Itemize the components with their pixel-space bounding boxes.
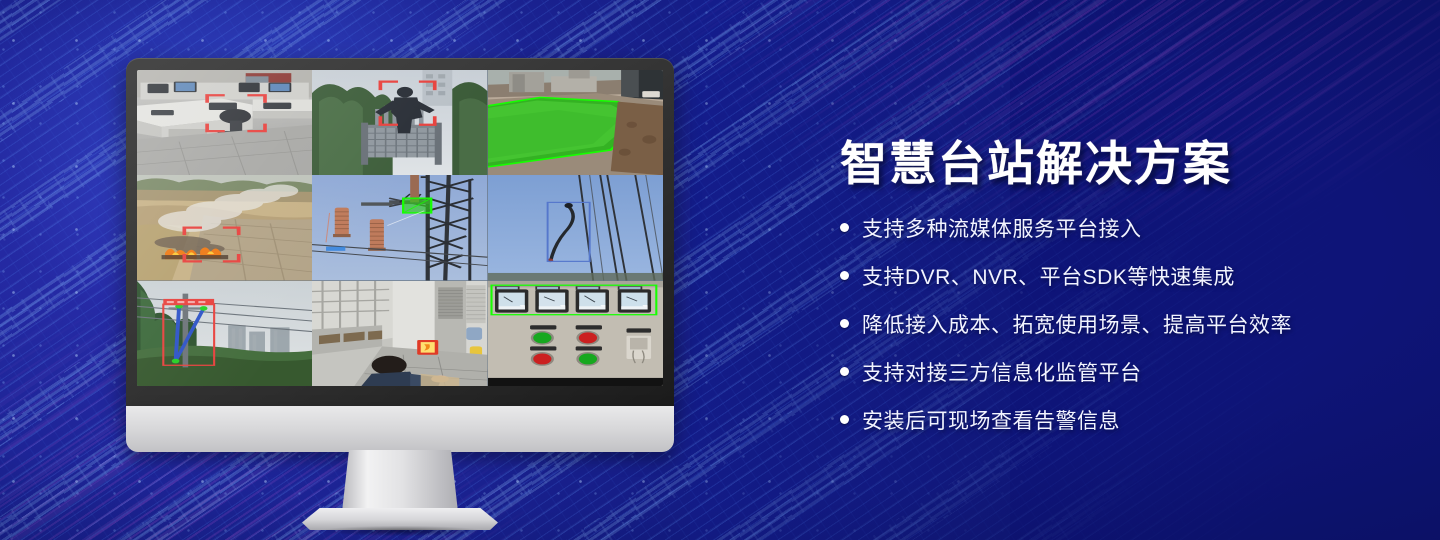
monitor-stand-neck <box>342 450 458 512</box>
monitor-chin <box>126 406 674 452</box>
video-panel-control-room-office[interactable] <box>137 70 312 175</box>
video-panel-green-tarp-yard-zone[interactable] <box>488 70 663 175</box>
bullet-dot-icon <box>840 415 849 424</box>
video-panel-control-panel-gauges[interactable] <box>488 281 663 386</box>
monitor-screen <box>137 70 663 386</box>
video-panel-person-climbing-fence[interactable] <box>312 70 487 175</box>
feature-text: 支持对接三方信息化监管平台 <box>862 357 1142 387</box>
bullet-dot-icon <box>840 271 849 280</box>
video-panel-equipment-room-operator[interactable] <box>312 281 487 386</box>
feature-text: 支持多种流媒体服务平台接入 <box>862 213 1142 243</box>
feature-text: 安装后可现场查看告警信息 <box>862 405 1120 435</box>
feature-item: 支持多种流媒体服务平台接入 <box>840 213 1400 243</box>
copy-block: 智慧台站解决方案 支持多种流媒体服务平台接入 支持DVR、NVR、平台SDK等快… <box>840 138 1400 453</box>
feature-list: 支持多种流媒体服务平台接入 支持DVR、NVR、平台SDK等快速集成 降低接入成… <box>840 213 1400 435</box>
bullet-dot-icon <box>840 319 849 328</box>
banner-root: 智慧台站解决方案 支持多种流媒体服务平台接入 支持DVR、NVR、平台SDK等快… <box>0 0 1440 540</box>
feature-item: 安装后可现场查看告警信息 <box>840 405 1400 435</box>
feature-text: 支持DVR、NVR、平台SDK等快速集成 <box>862 261 1235 291</box>
feature-item: 降低接入成本、拓宽使用场景、提高平台效率 <box>840 309 1400 339</box>
video-panel-power-lines-hanging-object[interactable] <box>488 175 663 280</box>
bullet-dot-icon <box>840 223 849 232</box>
monitor-base-shadow <box>294 524 508 538</box>
feature-item: 支持DVR、NVR、平台SDK等快速集成 <box>840 261 1400 291</box>
surveillance-grid <box>137 70 663 386</box>
page-title: 智慧台站解决方案 <box>840 138 1400 191</box>
bullet-dot-icon <box>840 367 849 376</box>
video-panel-transmission-tower-insulators[interactable] <box>312 175 487 280</box>
feature-item: 支持对接三方信息化监管平台 <box>840 357 1400 387</box>
video-panel-grass-fire-smoke[interactable] <box>137 175 312 280</box>
feature-text: 降低接入成本、拓宽使用场景、提高平台效率 <box>862 309 1292 339</box>
video-panel-utility-pole-tilt[interactable] <box>137 281 312 386</box>
monitor-bezel <box>126 58 674 410</box>
desktop-monitor <box>126 58 674 492</box>
